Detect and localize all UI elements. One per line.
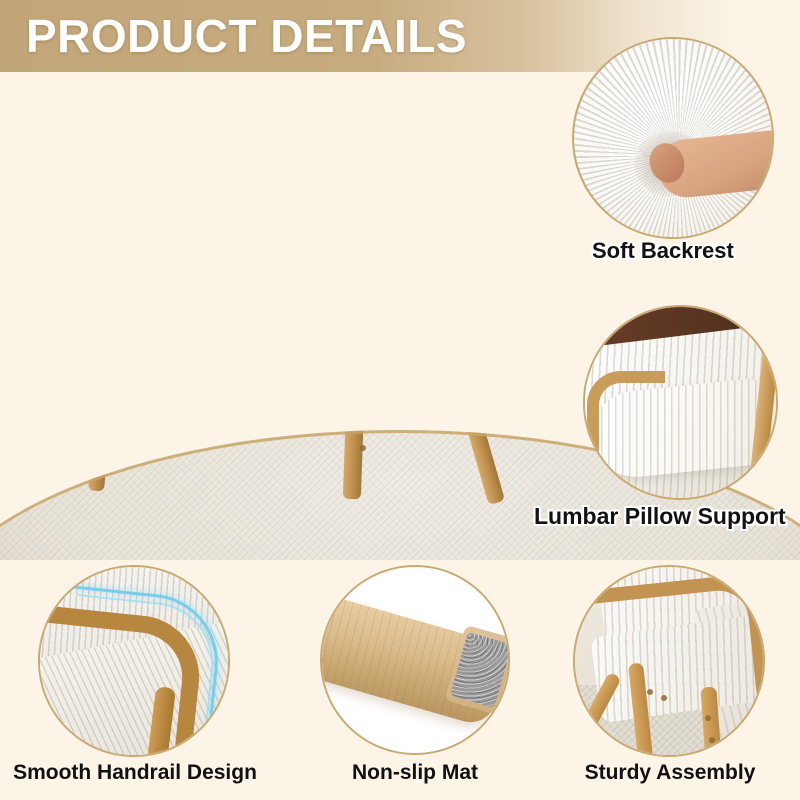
wooden-armrest [587, 371, 665, 500]
mug [4, 128, 50, 158]
mug-pattern [4, 138, 50, 158]
assembly-peg [363, 415, 369, 421]
caption-sturdy-assembly: Sturdy Assembly [555, 761, 785, 785]
callout-soft-backrest: FOLLOW [572, 37, 774, 239]
callout-lumbar-pillow-support [583, 305, 778, 500]
armchair [95, 75, 565, 475]
assembly-peg [457, 407, 463, 413]
caption-non-slip-mat: Non-slip Mat [300, 761, 530, 785]
callout-non-slip-mat [320, 565, 510, 755]
assembly-peg [499, 301, 505, 307]
assembly-peg [647, 689, 653, 695]
caption-smooth-handrail-design: Smooth Handrail Design [0, 761, 270, 785]
callout-sturdy-assembly [573, 565, 765, 757]
caption-soft-backrest: Soft Backrest [592, 238, 734, 264]
product-detail-image: FOLLOW [0, 0, 800, 800]
cabinet-knob [784, 272, 791, 279]
callout-smooth-handrail-design [38, 565, 230, 757]
right-armrest [344, 183, 566, 351]
caption-lumbar-pillow-support: Lumbar Pillow Support [534, 503, 786, 530]
cabinet-knob [672, 272, 679, 279]
assembly-peg [705, 715, 711, 721]
page-title: PRODUCT DETAILS [26, 9, 467, 63]
wooden-armrest [585, 572, 765, 753]
assembly-peg [709, 737, 715, 743]
assembly-peg [661, 695, 667, 701]
